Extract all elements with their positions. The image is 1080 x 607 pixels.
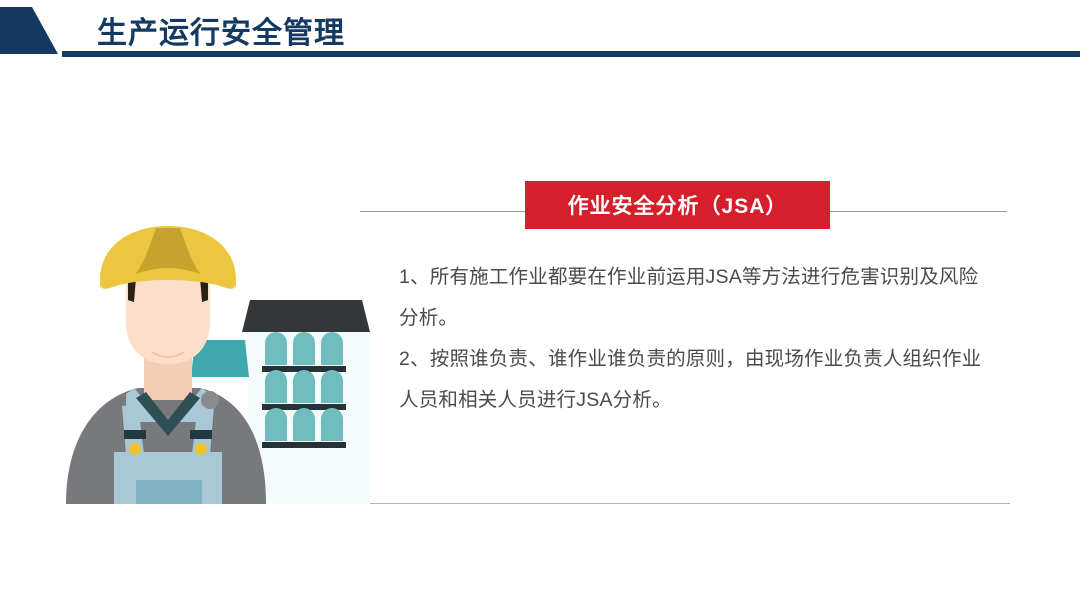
body-paragraph-2: 2、按照谁负责、谁作业谁负责的原则，由现场作业负责人组织作业人员和相关人员进行J… (399, 339, 989, 421)
section-banner-label: 作业安全分析（JSA） (568, 190, 788, 220)
building-windows (262, 332, 346, 448)
worker-helmet (100, 226, 236, 289)
section-banner: 作业安全分析（JSA） (525, 181, 830, 229)
worker-clip-right (190, 430, 212, 439)
building-roof (242, 300, 370, 332)
body-paragraph-1: 1、所有施工作业都要在作业前运用JSA等方法进行危害识别及风险分析。 (399, 257, 989, 339)
worker-shoulder-detail (201, 391, 219, 409)
worker-overalls-pocket (136, 480, 202, 504)
page-title: 生产运行安全管理 (97, 8, 345, 52)
worker-button-left (129, 443, 141, 455)
body-copy: 1、所有施工作业都要在作业前运用JSA等方法进行危害识别及风险分析。 2、按照谁… (399, 257, 989, 421)
header-accent-tab (0, 7, 58, 54)
slide-canvas: 生产运行安全管理 作业安全分析（JSA） 1、所有施工作业都要在作业前运用JSA… (0, 0, 1080, 607)
worker-illustration (60, 222, 370, 504)
worker-clip-left (124, 430, 146, 439)
worker-button-right (195, 443, 207, 455)
